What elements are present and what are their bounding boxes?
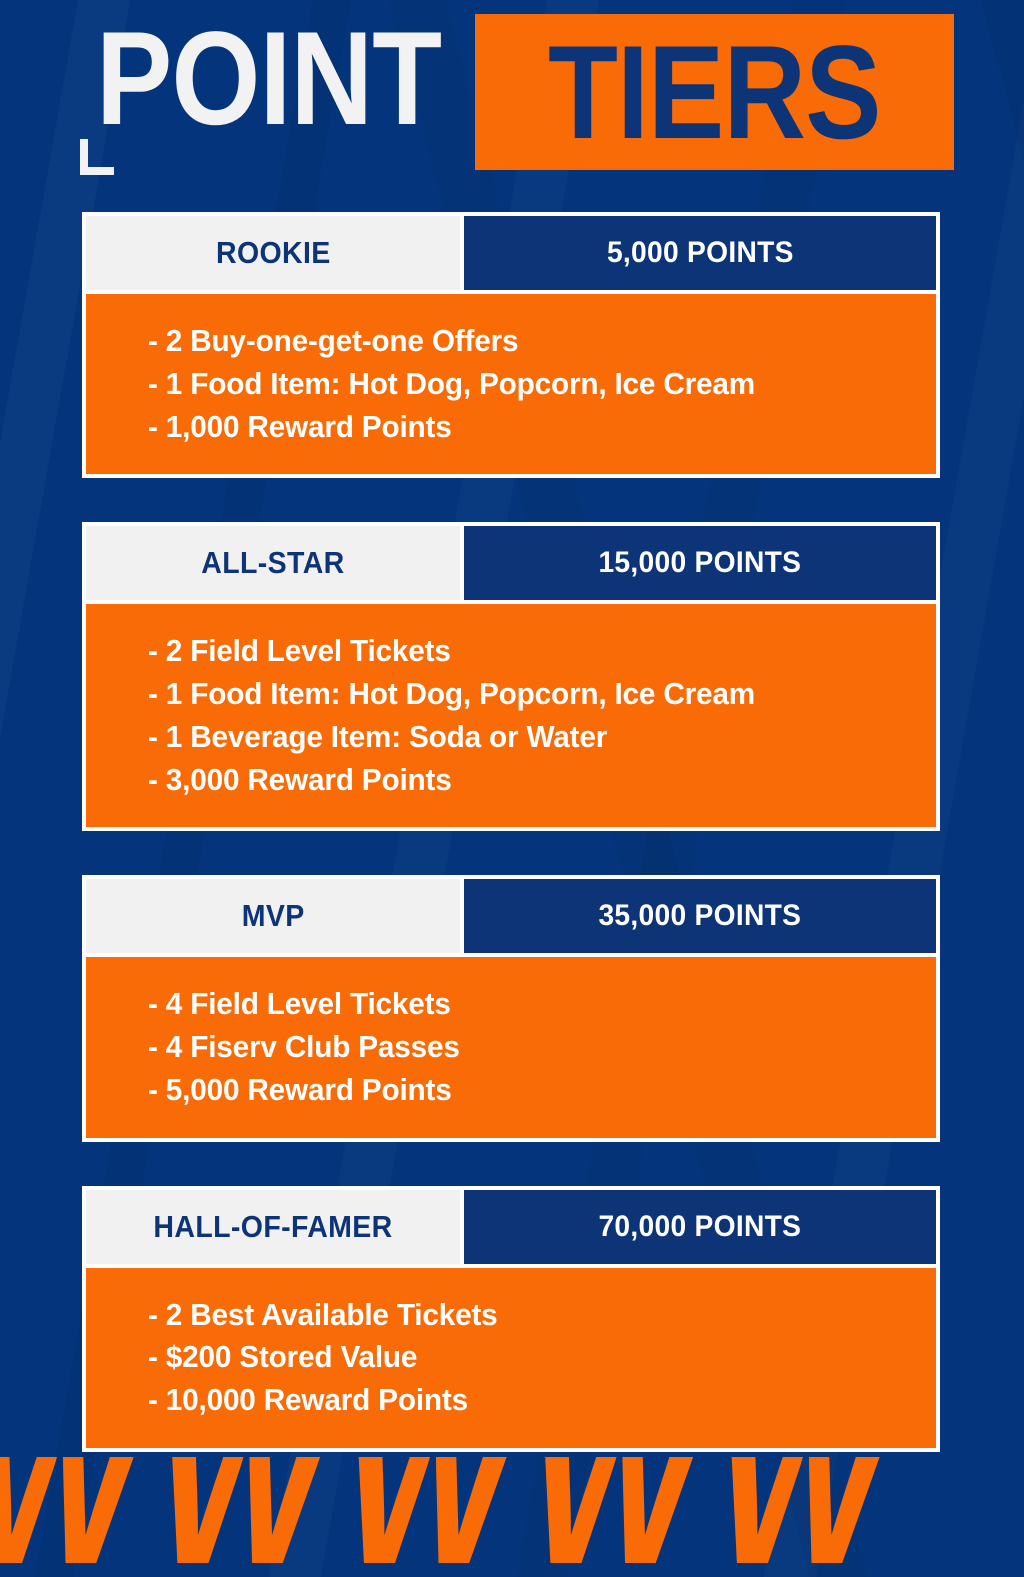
tier-points-cell: 70,000 POINTS [460, 1190, 936, 1264]
benefit-item: - 1 Beverage Item: Soda or Water [148, 716, 904, 759]
tier-name-label: ALL-STAR [201, 545, 344, 581]
tier-benefits: - 4 Field Level Tickets - 4 Fiserv Club … [86, 953, 936, 1137]
tier-benefits: - 2 Best Available Tickets - $200 Stored… [86, 1264, 936, 1448]
benefit-item: - $200 Stored Value [148, 1336, 904, 1379]
benefit-item: - 10,000 Reward Points [148, 1379, 904, 1422]
tier-benefits: - 2 Field Level Tickets - 1 Food Item: H… [86, 600, 936, 827]
tier-header: HALL-OF-FAMER 70,000 POINTS [86, 1190, 936, 1264]
tier-points-label: 5,000 POINTS [607, 236, 794, 270]
tier-points-label: 15,000 POINTS [599, 546, 802, 580]
benefit-item: - 2 Best Available Tickets [148, 1294, 904, 1337]
tier-header: ROOKIE 5,000 POINTS [86, 216, 936, 290]
tier-points-label: 35,000 POINTS [599, 899, 802, 933]
point-tiers-page: POINT TIERS ROOKIE 5,000 POINTS - 2 Buy-… [0, 0, 1024, 1577]
footer-decorative-letters: WWWWW [0, 1457, 902, 1577]
benefit-item: - 4 Fiserv Club Passes [148, 1026, 904, 1069]
tier-points-cell: 5,000 POINTS [460, 216, 936, 290]
tier-name-cell: HALL-OF-FAMER [86, 1190, 460, 1264]
footer-decorative-graphic: WWWWW [0, 1457, 1024, 1577]
tier-card-mvp: MVP 35,000 POINTS - 4 Field Level Ticket… [82, 875, 940, 1141]
benefit-item: - 3,000 Reward Points [148, 759, 904, 802]
benefit-item: - 4 Field Level Tickets [148, 983, 904, 1026]
title-word-point: POINT [96, 14, 441, 144]
title-highlight-block: TIERS [475, 14, 954, 170]
tier-points-label: 70,000 POINTS [599, 1210, 802, 1244]
page-title: POINT TIERS [96, 14, 954, 170]
tier-card-all-star: ALL-STAR 15,000 POINTS - 2 Field Level T… [82, 522, 940, 831]
tier-benefits: - 2 Buy-one-get-one Offers - 1 Food Item… [86, 290, 936, 474]
benefit-item: - 1 Food Item: Hot Dog, Popcorn, Ice Cre… [148, 673, 904, 716]
tier-name-label: HALL-OF-FAMER [153, 1209, 392, 1245]
title-word-tiers: TIERS [548, 28, 881, 158]
tier-points-cell: 15,000 POINTS [460, 526, 936, 600]
tier-name-cell: MVP [86, 879, 460, 953]
tier-header: MVP 35,000 POINTS [86, 879, 936, 953]
tier-name-label: ROOKIE [216, 235, 331, 271]
tier-name-cell: ROOKIE [86, 216, 460, 290]
benefit-item: - 1 Food Item: Hot Dog, Popcorn, Ice Cre… [148, 363, 904, 406]
benefit-item: - 2 Buy-one-get-one Offers [148, 320, 904, 363]
tier-name-cell: ALL-STAR [86, 526, 460, 600]
tier-card-list: ROOKIE 5,000 POINTS - 2 Buy-one-get-one … [82, 212, 940, 1452]
tier-card-rookie: ROOKIE 5,000 POINTS - 2 Buy-one-get-one … [82, 212, 940, 478]
tier-points-cell: 35,000 POINTS [460, 879, 936, 953]
page-header: POINT TIERS [0, 0, 1024, 200]
tier-name-label: MVP [242, 898, 305, 934]
tier-header: ALL-STAR 15,000 POINTS [86, 526, 936, 600]
corner-bracket-icon [80, 139, 114, 175]
benefit-item: - 5,000 Reward Points [148, 1069, 904, 1112]
benefit-item: - 2 Field Level Tickets [148, 630, 904, 673]
tier-card-hall-of-famer: HALL-OF-FAMER 70,000 POINTS - 2 Best Ava… [82, 1186, 940, 1452]
benefit-item: - 1,000 Reward Points [148, 406, 904, 449]
